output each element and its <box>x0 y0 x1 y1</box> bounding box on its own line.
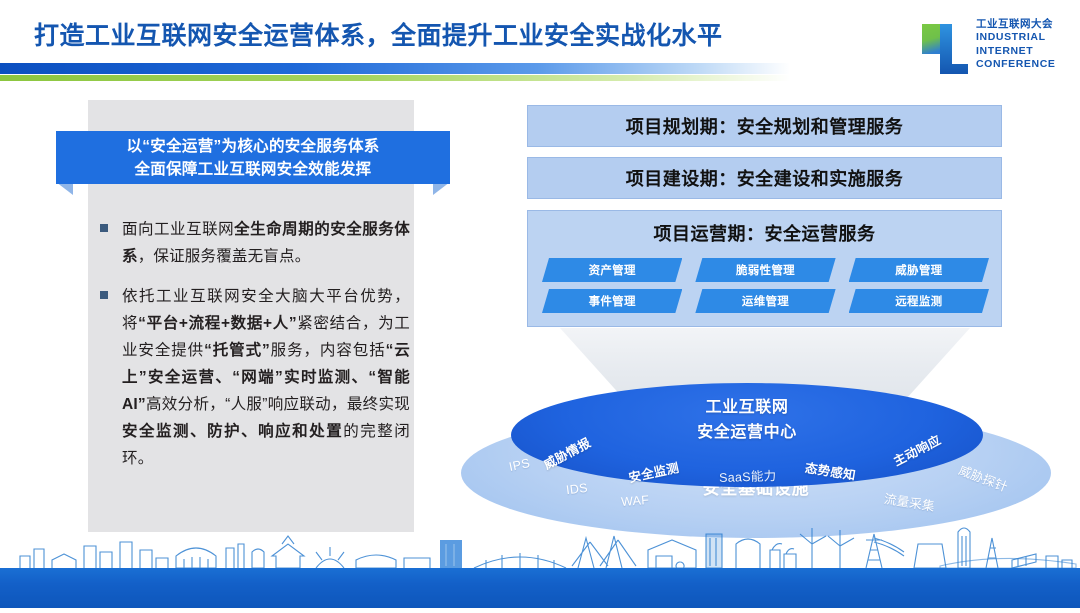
bullet-segment: 服务，内容包括 <box>270 342 386 359</box>
bullet-segment: “平台+流程+数据+人” <box>138 315 297 332</box>
phase-label-planning: 项目规划期：安全规划和管理服务 <box>626 113 904 139</box>
ribbon-banner: 以“安全运营”为核心的安全服务体系 全面保障工业互联网安全效能发挥 <box>56 131 450 195</box>
ribbon-text: 以“安全运营”为核心的安全服务体系 全面保障工业互联网安全效能发挥 <box>126 135 379 181</box>
inner-label-saas-capability: SaaS能力 <box>719 465 777 486</box>
sea-band <box>0 568 1080 608</box>
bullet-segment: 安全监测、防护、响应和处置 <box>122 423 343 440</box>
city-skyline-decoration <box>0 516 1080 608</box>
phase-bar-planning[interactable]: 项目规划期：安全规划和管理服务 <box>527 105 1002 147</box>
ribbon-body: 以“安全运营”为核心的安全服务体系 全面保障工业互联网安全效能发挥 <box>56 131 450 184</box>
ribbon-line-1: 以“安全运营”为核心的安全服务体系 <box>126 135 379 158</box>
bullet-marker-icon <box>100 224 108 232</box>
phase-bar-operations[interactable]: 项目运营期：安全运营服务 资产管理脆弱性管理威胁管理事件管理运维管理远程监测 <box>527 210 1002 327</box>
logo-text: 工业互联网大会 INDUSTRIAL INTERNET CONFERENCE <box>976 18 1056 72</box>
bullet-text: 面向工业互联网全生命周期的安全服务体系，保证服务覆盖无盲点。 <box>122 216 410 270</box>
operations-tag-label: 威胁管理 <box>895 262 942 278</box>
ribbon-line-2: 全面保障工业互联网安全效能发挥 <box>126 158 379 181</box>
logo-line-industrial: INDUSTRIAL <box>976 31 1056 45</box>
bullet-text: 依托工业互联网安全大脑大平台优势，将“平台+流程+数据+人”紧密结合，为工业安全… <box>122 283 410 472</box>
operations-title: 项目运营期：安全运营服务 <box>528 220 1001 246</box>
bullet-marker-icon <box>100 291 108 299</box>
bullet-segment: ，保证服务覆盖无盲点。 <box>138 248 311 265</box>
bullet-segment: 面向工业互联网 <box>122 221 234 238</box>
header-divider-blue <box>0 63 790 74</box>
operations-tag-label: 远程监测 <box>895 293 942 309</box>
operations-tag-grid: 资产管理脆弱性管理威胁管理事件管理运维管理远程监测 <box>542 258 989 313</box>
operations-tag-label: 脆弱性管理 <box>736 262 795 278</box>
security-operations-center-disc: 工业互联网 安全运营中心 威胁情报 安全监测 SaaS能力 态势感知 主动响应 <box>511 383 983 487</box>
outer-label-waf: WAF <box>621 493 650 509</box>
operations-tag[interactable]: 事件管理 <box>542 289 682 313</box>
conference-logo: 工业互联网大会 INDUSTRIAL INTERNET CONFERENCE <box>918 18 1068 80</box>
inner-label-security-monitoring: 安全监测 <box>627 457 681 486</box>
logo-line-conference: CONFERENCE <box>976 58 1056 72</box>
outer-label-ips: IPS <box>508 456 532 474</box>
operations-tag[interactable]: 运维管理 <box>695 289 835 313</box>
bullet-segment: “托管式” <box>204 342 270 359</box>
bullet-item: 依托工业互联网安全大脑大平台优势，将“平台+流程+数据+人”紧密结合，为工业安全… <box>100 283 410 472</box>
soc-title-line-1: 工业互联网 <box>511 395 983 420</box>
operations-tag-label: 事件管理 <box>589 293 636 309</box>
operations-tag[interactable]: 远程监测 <box>849 289 989 313</box>
operations-tag[interactable]: 资产管理 <box>542 258 682 282</box>
logo-title-cn: 工业互联网大会 <box>976 18 1056 31</box>
bullet-list: 面向工业互联网全生命周期的安全服务体系，保证服务覆盖无盲点。依托工业互联网安全大… <box>100 216 410 485</box>
operations-tag-label: 运维管理 <box>742 293 789 309</box>
bullet-segment: 高效分析，“人服”响应联动，最终实现 <box>146 396 410 413</box>
header-divider-green <box>0 75 790 81</box>
logo-mark-icon <box>918 20 970 76</box>
operations-tag[interactable]: 威胁管理 <box>849 258 989 282</box>
page-title: 打造工业互联网安全运营体系，全面提升工业安全实战化水平 <box>34 16 723 52</box>
operations-tag[interactable]: 脆弱性管理 <box>695 258 835 282</box>
phase-label-construction: 项目建设期：安全建设和实施服务 <box>626 165 904 191</box>
logo-line-internet: INTERNET <box>976 45 1056 59</box>
outer-label-ids: IDS <box>565 481 588 498</box>
inner-label-situational-awareness: 态势感知 <box>804 457 858 484</box>
bullet-item: 面向工业互联网全生命周期的安全服务体系，保证服务覆盖无盲点。 <box>100 216 410 270</box>
operations-tag-label: 资产管理 <box>589 262 636 278</box>
phase-bar-construction[interactable]: 项目建设期：安全建设和实施服务 <box>527 157 1002 199</box>
